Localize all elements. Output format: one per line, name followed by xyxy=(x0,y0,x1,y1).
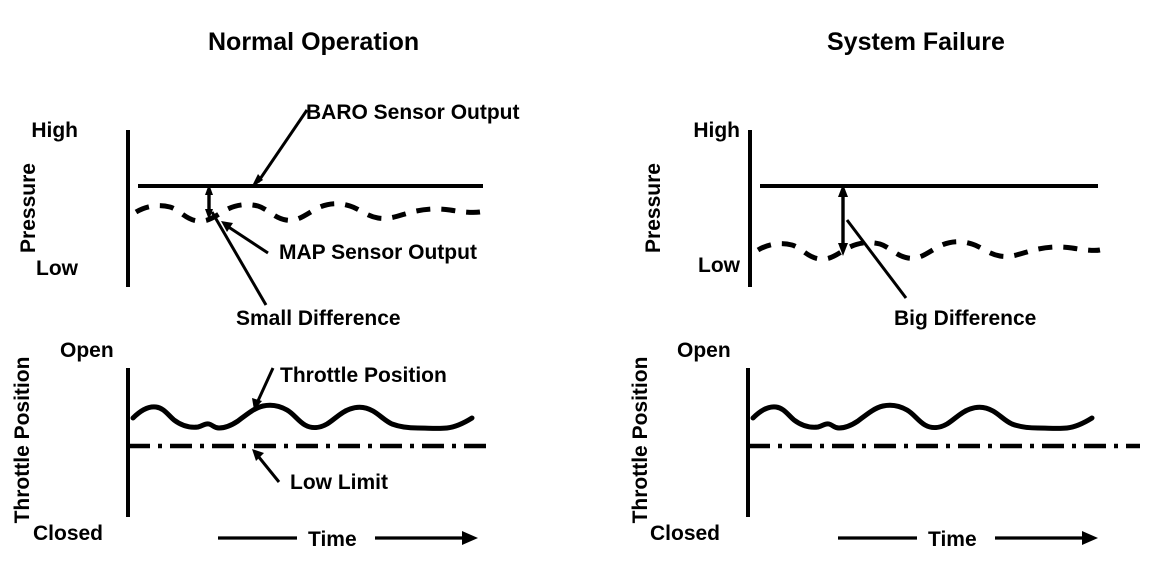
throttle-axis-title-normal: Throttle Position xyxy=(11,357,34,524)
callout-leader-small-difference xyxy=(212,212,266,305)
time-axis-failure: Time xyxy=(838,528,1098,551)
map-sensor-wave-normal xyxy=(136,204,480,221)
panel-normal-operation: Normal Operation High Low Pressure xyxy=(11,28,520,551)
throttle-axis-title-failure: Throttle Position xyxy=(629,357,652,524)
callout-throttle-position-normal: Throttle Position xyxy=(252,364,447,410)
callout-label-big-difference: Big Difference xyxy=(894,307,1036,330)
technical-diagram: Normal Operation High Low Pressure xyxy=(0,0,1152,578)
callout-label-baro-sensor-output: BARO Sensor Output xyxy=(306,101,520,124)
pressure-tick-high-failure: High xyxy=(693,119,740,142)
callout-low-limit-normal: Low Limit xyxy=(252,449,388,494)
pressure-tick-high-normal: High xyxy=(31,119,78,142)
throttle-chart-failure: Open Closed Throttle Position Time xyxy=(629,339,1140,551)
panel-system-failure: System Failure High Low Pressure xyxy=(629,28,1140,551)
callout-leader-big-difference xyxy=(847,220,906,298)
diagram-root: Normal Operation High Low Pressure xyxy=(0,0,1152,578)
time-axis-label-failure: Time xyxy=(928,528,977,551)
callout-leader-baro xyxy=(258,110,307,182)
callout-label-small-difference: Small Difference xyxy=(236,307,401,330)
time-axis-normal: Time xyxy=(218,528,478,551)
callout-baro-sensor-output-normal: BARO Sensor Output xyxy=(251,101,520,188)
pressure-axis-title-failure: Pressure xyxy=(642,163,665,253)
time-arrowhead-normal xyxy=(462,531,478,545)
pressure-chart-failure: High Low Pressure Big Difference xyxy=(642,119,1100,330)
pressure-tick-low-normal: Low xyxy=(36,257,79,280)
time-arrowhead-failure xyxy=(1082,531,1098,545)
pressure-chart-normal: High Low Pressure BARO Sensor Output xyxy=(17,101,520,330)
callout-label-low-limit: Low Limit xyxy=(290,471,388,494)
callout-leader-low-limit xyxy=(258,456,279,482)
throttle-chart-normal: Open Closed Throttle Position Throttle P… xyxy=(11,339,488,551)
callout-label-map-sensor-output: MAP Sensor Output xyxy=(279,241,477,264)
time-axis-label-normal: Time xyxy=(308,528,357,551)
pressure-axis-title-normal: Pressure xyxy=(17,163,40,253)
throttle-tick-open-normal: Open xyxy=(60,339,114,362)
throttle-tick-closed-normal: Closed xyxy=(33,522,103,545)
panel-title-normal-operation: Normal Operation xyxy=(208,28,419,56)
callout-label-throttle-position: Throttle Position xyxy=(280,364,447,387)
callout-leader-throttle-position xyxy=(257,368,273,403)
callout-map-sensor-output-normal: MAP Sensor Output xyxy=(221,221,477,264)
throttle-tick-closed-failure: Closed xyxy=(650,522,720,545)
throttle-position-wave-normal xyxy=(133,405,472,428)
throttle-position-wave-failure xyxy=(753,405,1092,428)
pressure-gap-arrow-failure xyxy=(838,184,848,256)
map-sensor-wave-failure xyxy=(758,242,1100,259)
callout-big-difference: Big Difference xyxy=(847,220,1036,330)
pressure-tick-low-failure: Low xyxy=(698,254,741,277)
throttle-tick-open-failure: Open xyxy=(677,339,731,362)
callout-small-difference: Small Difference xyxy=(212,212,401,330)
panel-title-system-failure: System Failure xyxy=(827,28,1005,56)
